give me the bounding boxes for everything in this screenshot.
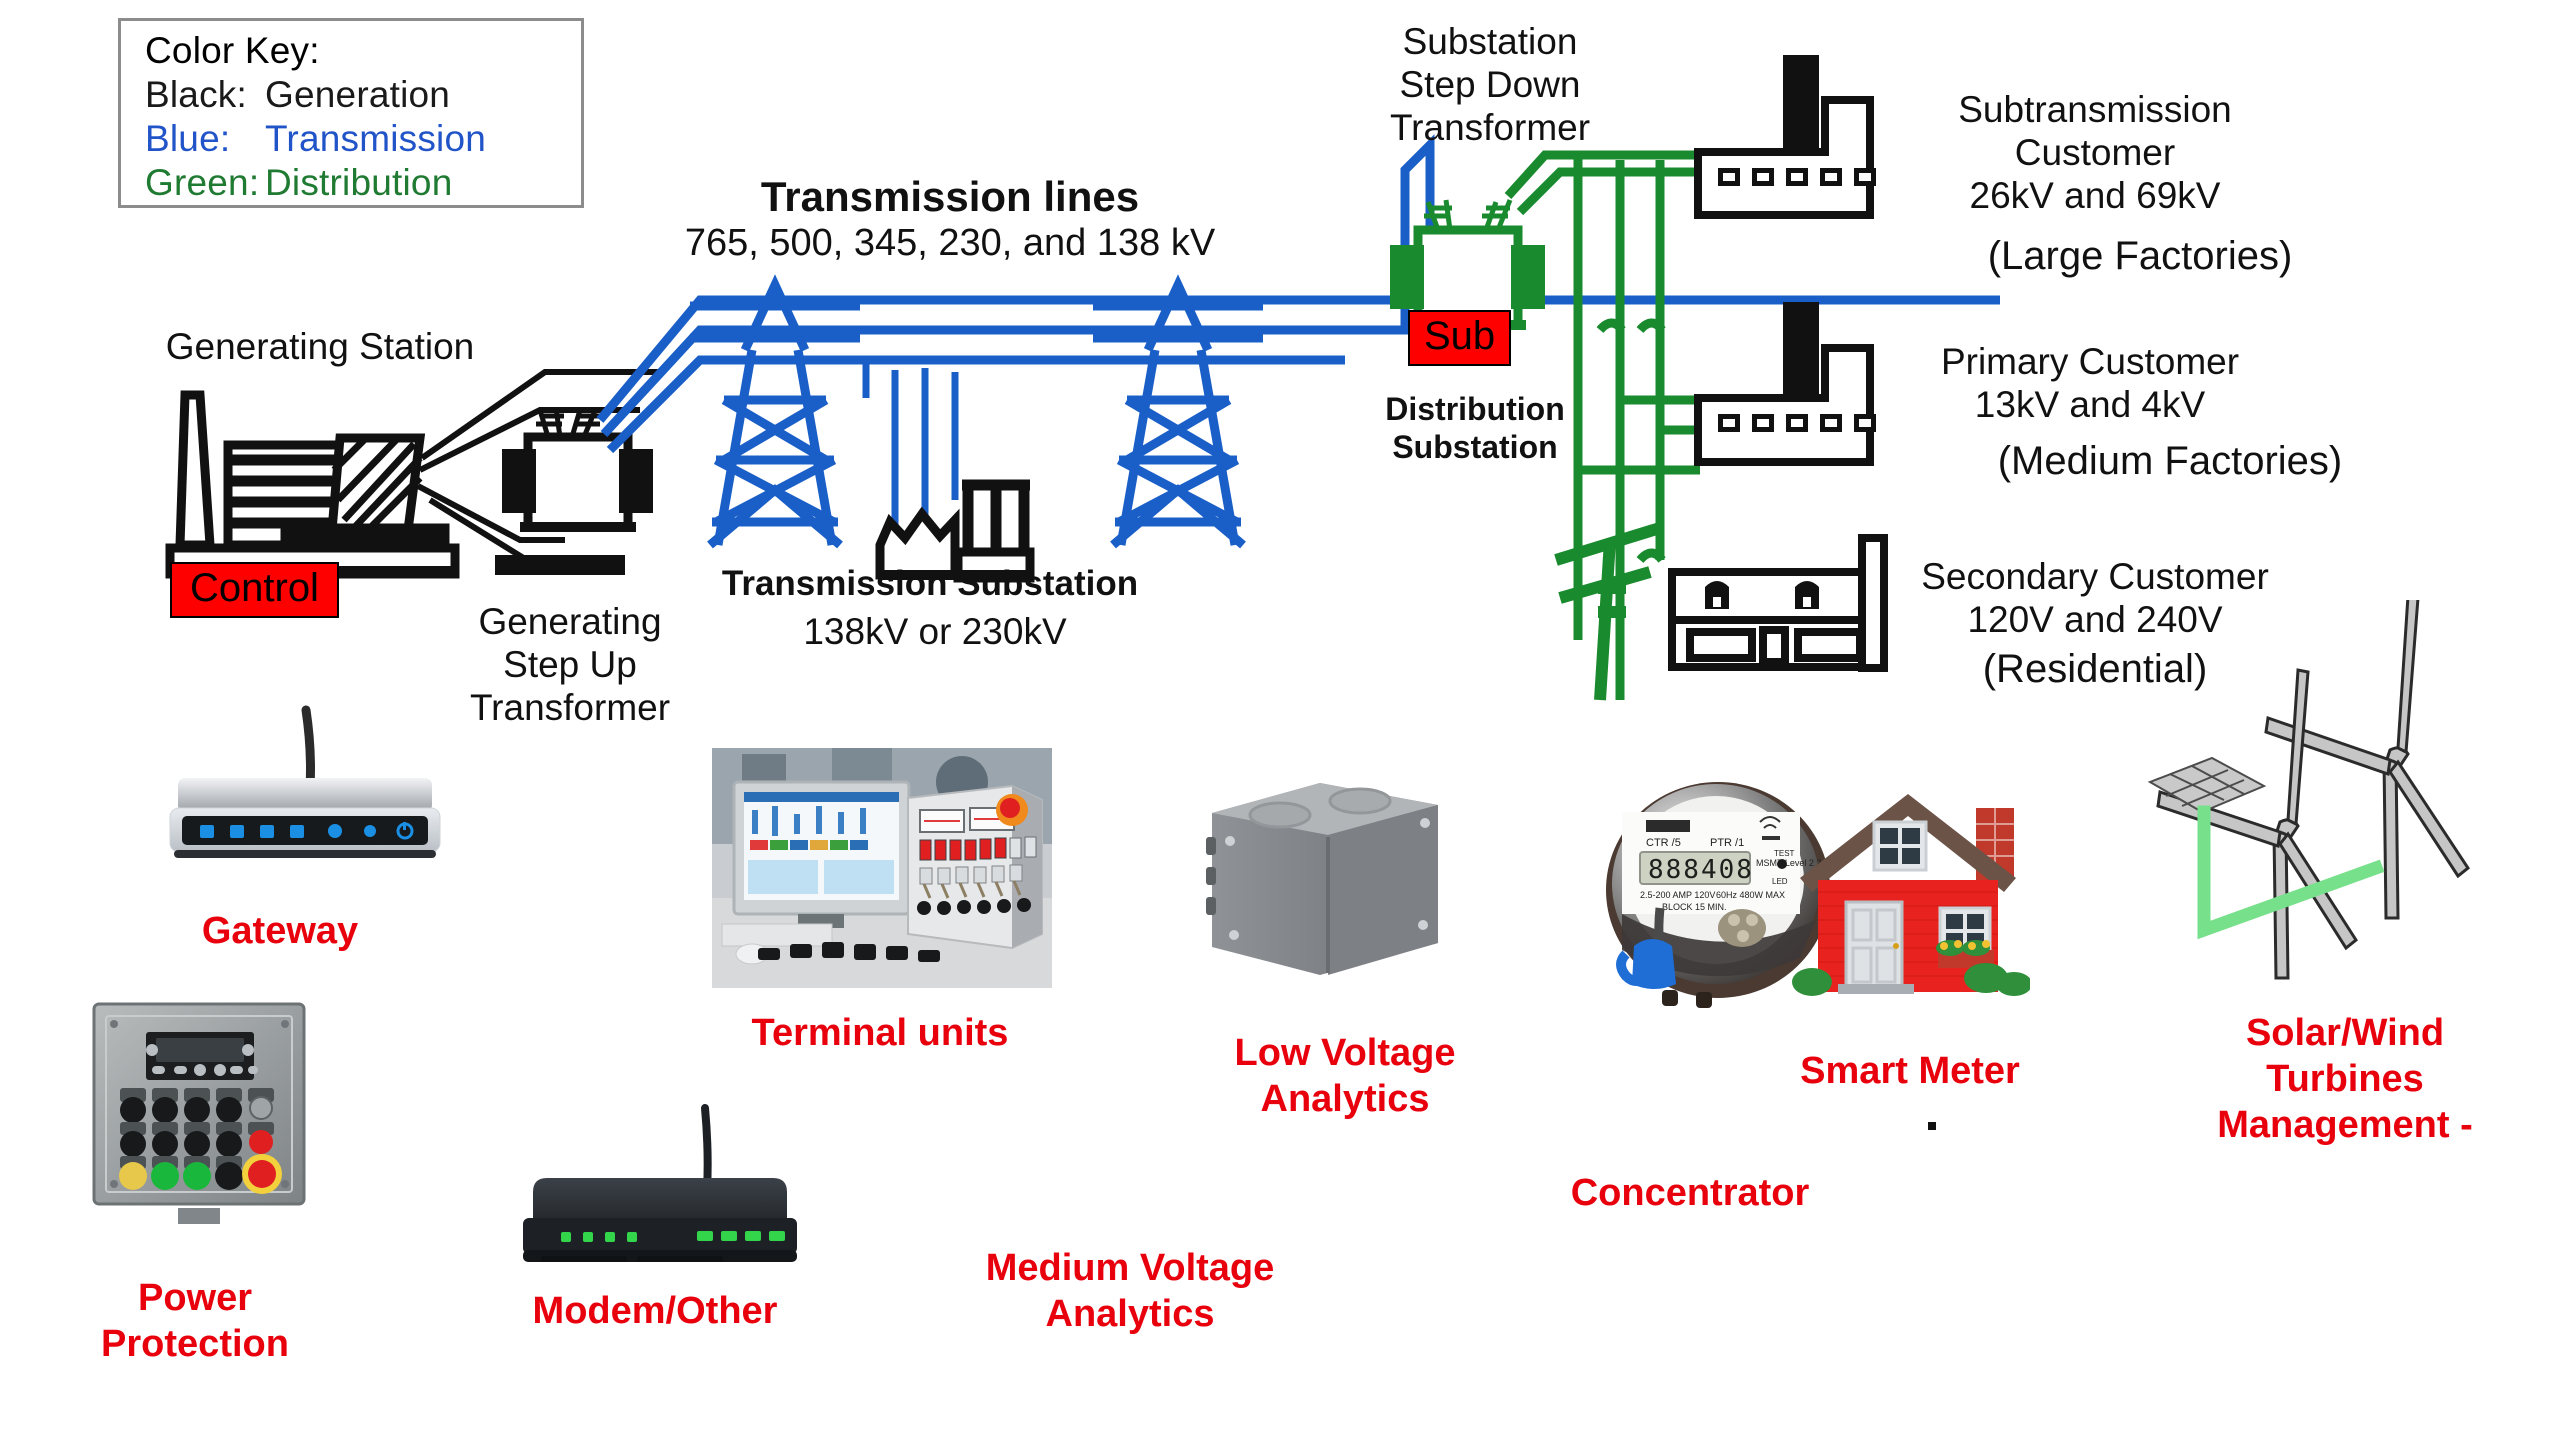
generating-station-label: Generating Station (100, 325, 540, 368)
residential-house-icon (1790, 780, 2030, 1010)
transmission-lines-title: Transmission lines (640, 175, 1260, 218)
subtransmission-customer-type: Subtransmission Customer (1880, 88, 2310, 174)
modem-other-label: Modem/Other (480, 1288, 830, 1334)
solar-wind-management-label: Solar/Wind Turbines Management - (2160, 1010, 2530, 1148)
primary-customer-voltage: 13kV and 4kV (1880, 383, 2300, 426)
meter-rating-2: 60Hz 480W MAX (1716, 890, 1785, 900)
stray-dot (1928, 1122, 1936, 1130)
power-protection-panel-icon (90, 1000, 310, 1225)
terminal-units-label: Terminal units (690, 1010, 1070, 1056)
control-badge: Control (170, 562, 339, 618)
subtransmission-customer-icon (1698, 55, 1876, 215)
meter-display-value: 888408 (1648, 855, 1754, 885)
primary-customer-note: (Medium Factories) (1930, 440, 2410, 483)
transmission-substation-title: Transmission Substation (720, 562, 1140, 605)
substation-step-down-transformer-label: Substation Step Down Transformer (1320, 20, 1660, 149)
sub-badge: Sub (1408, 310, 1511, 366)
primary-customer-icon (1698, 302, 1876, 462)
transmission-lines-voltages: 765, 500, 345, 230, and 138 kV (620, 222, 1280, 265)
generating-step-up-transformer-label: Generating Step Up Transformer (440, 600, 700, 729)
power-protection-label: Power Protection (60, 1275, 330, 1367)
low-voltage-enclosure-icon (1200, 775, 1450, 1005)
meter-rating-1: 2.5-200 AMP 120V (1640, 890, 1715, 900)
concentrator-label: Concentrator (1490, 1170, 1890, 1216)
meter-led-tag: LED (1772, 877, 1788, 886)
secondary-customer-icon (1672, 538, 1884, 668)
low-voltage-analytics-label: Low Voltage Analytics (1190, 1030, 1500, 1122)
transmission-substation-voltages: 138kV or 230kV (760, 610, 1110, 653)
subtransmission-customer-note: (Large Factories) (1920, 235, 2360, 278)
gateway-label: Gateway (130, 908, 430, 954)
meter-ctr-tag: CTR /5 (1646, 837, 1681, 849)
subtransmission-customer-voltage: 26kV and 69kV (1880, 174, 2310, 217)
solar-wind-icon (2140, 600, 2540, 1020)
transmission-tower-left-icon (690, 285, 860, 545)
secondary-customer-type: Secondary Customer (1870, 555, 2320, 598)
distribution-substation-label: Distribution Substation (1330, 390, 1620, 466)
smart-meter-label: Smart Meter (1740, 1048, 2080, 1094)
terminal-units-photo (712, 748, 1052, 988)
meter-block-tag: BLOCK 15 MIN. (1662, 902, 1727, 912)
meter-ptr-tag: PTR /1 (1710, 837, 1744, 849)
gateway-router-icon (160, 700, 450, 880)
primary-customer-type: Primary Customer (1880, 340, 2300, 383)
medium-voltage-analytics-label: Medium Voltage Analytics (930, 1245, 1330, 1337)
modem-icon (505, 1100, 815, 1280)
transmission-tower-right-icon (1093, 285, 1263, 545)
transmission-substation-icon (866, 356, 1033, 580)
